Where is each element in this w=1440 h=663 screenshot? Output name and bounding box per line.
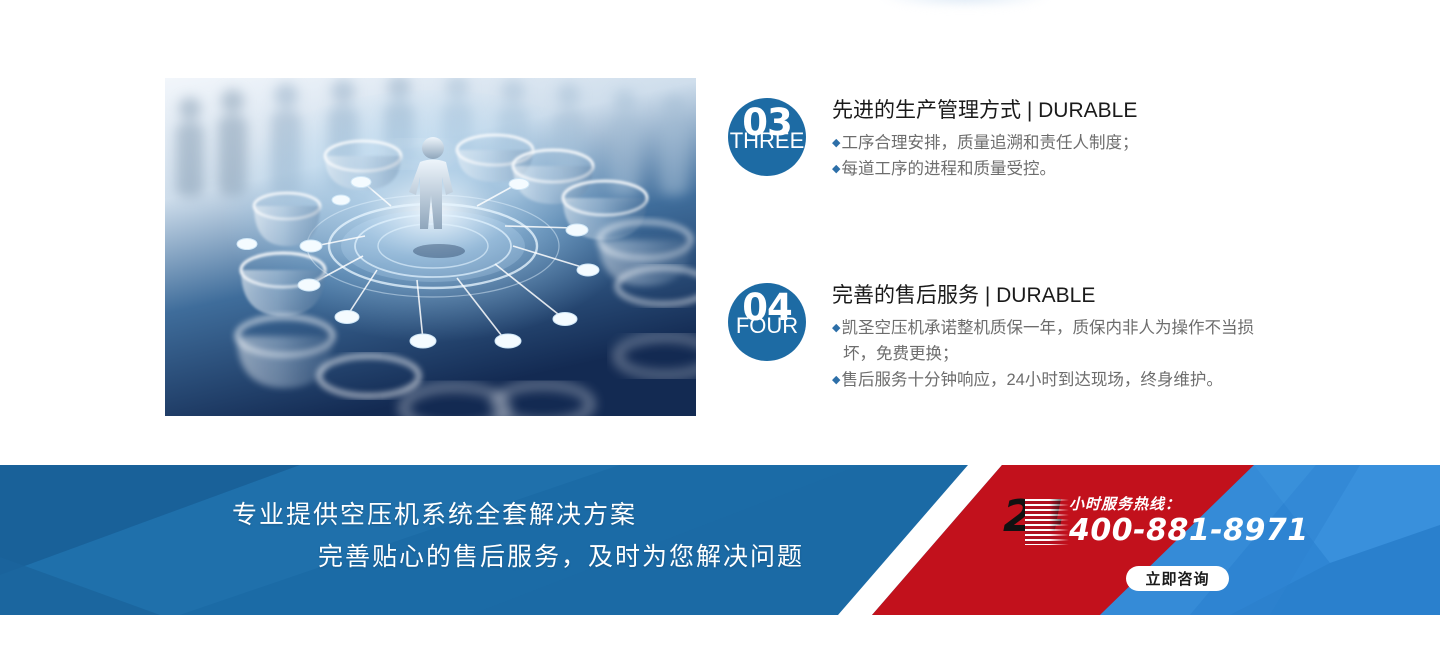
diamond-bullet-icon: ◆: [832, 322, 840, 334]
feature-image: [165, 78, 696, 416]
hotline-phone-number: 400-881-8971: [1069, 515, 1309, 547]
list-item: ◆售后服务十分钟响应，24小时到达现场，终身维护。: [832, 367, 1258, 393]
feature-title: 完善的售后服务 | DURABLE: [832, 283, 1258, 309]
bullet-text: 工序合理安排，质量追溯和责任人制度；: [841, 134, 1138, 152]
bullet-text: 售后服务十分钟响应，24小时到达现场，终身维护。: [841, 371, 1222, 389]
badge-04: 04 FOUR: [728, 283, 806, 361]
feature-text-04: 完善的售后服务 | DURABLE ◆凯圣空压机承诺整机质保一年，质保内非人为操…: [832, 283, 1258, 393]
diamond-bullet-icon: ◆: [832, 374, 840, 386]
feature-title: 先进的生产管理方式 | DURABLE: [832, 98, 1138, 124]
feature-bullet-list: ◆工序合理安排，质量追溯和责任人制度； ◆每道工序的进程和质量受控。: [832, 130, 1138, 182]
top-edge-smudge: [880, 0, 1050, 8]
consult-now-button[interactable]: 立即咨询: [1126, 566, 1229, 591]
banner-headline-line-2: 完善贴心的售后服务，及时为您解决问题: [318, 537, 804, 573]
diamond-bullet-icon: ◆: [832, 163, 840, 175]
feature-bullet-list: ◆凯圣空压机承诺整机质保一年，质保内非人为操作不当损坏，免费更换； ◆售后服务十…: [832, 315, 1258, 393]
24-hour-logo-icon: 24: [1003, 497, 1065, 549]
stripe-decoration: [1025, 499, 1069, 545]
list-item: ◆凯圣空压机承诺整机质保一年，质保内非人为操作不当损坏，免费更换；: [832, 315, 1258, 367]
banner-headline-group: 专业提供空压机系统全套解决方案 完善贴心的售后服务，及时为您解决问题: [0, 465, 960, 615]
diamond-bullet-icon: ◆: [832, 137, 840, 149]
feature-block-04: 04 FOUR 完善的售后服务 | DURABLE ◆凯圣空压机承诺整机质保一年…: [728, 283, 1258, 393]
feature-block-03: 03 THREE 先进的生产管理方式 | DURABLE ◆工序合理安排，质量追…: [728, 98, 1138, 182]
banner-headline-line-1: 专业提供空压机系统全套解决方案: [232, 495, 637, 531]
badge-word: FOUR: [728, 315, 806, 337]
list-item: ◆工序合理安排，质量追溯和责任人制度；: [832, 130, 1138, 156]
list-item: ◆每道工序的进程和质量受控。: [832, 156, 1138, 182]
hotline-block: 24 小时服务热线： 400-881-8971: [1003, 497, 1309, 549]
badge-word: THREE: [728, 130, 806, 152]
bullet-text: 凯圣空压机承诺整机质保一年，质保内非人为操作不当损坏，免费更换；: [841, 319, 1254, 363]
badge-03: 03 THREE: [728, 98, 806, 176]
hotline-label: 小时服务热线：: [1069, 497, 1309, 514]
feature-text-03: 先进的生产管理方式 | DURABLE ◆工序合理安排，质量追溯和责任人制度； …: [832, 98, 1138, 182]
bullet-text: 每道工序的进程和质量受控。: [841, 160, 1056, 178]
hotline-text-group: 小时服务热线： 400-881-8971: [1069, 497, 1309, 546]
